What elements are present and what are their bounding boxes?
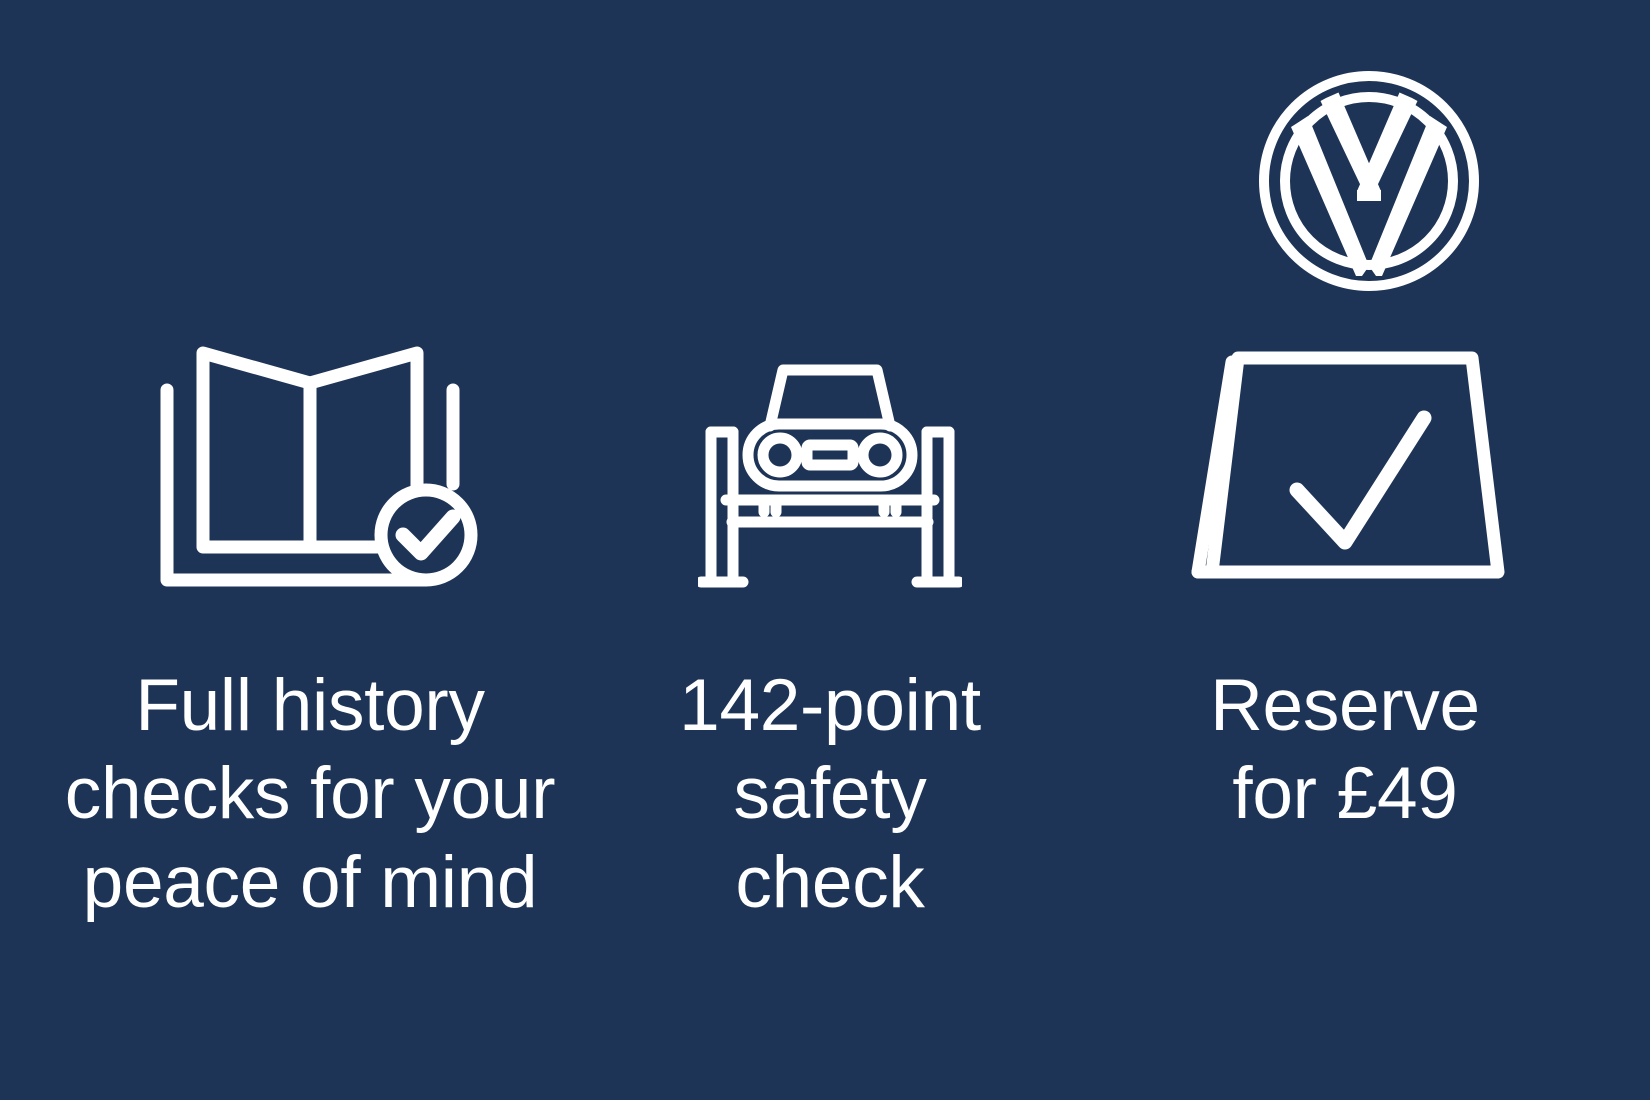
open-book-check-icon (140, 330, 480, 590)
feature-list: Full history checks for your peace of mi… (0, 330, 1650, 927)
feature-item-reserve: Reserve for £49 (1040, 330, 1650, 839)
feature-icon-wrapper (1180, 330, 1510, 590)
feature-icon-wrapper (698, 330, 962, 590)
feature-item-safety-check: 142-point safety check (620, 330, 1040, 927)
a-frame-sign-check-icon (1180, 340, 1510, 590)
car-on-lift-icon (698, 340, 962, 590)
check-badge-icon (381, 490, 471, 580)
feature-icon-wrapper (140, 330, 480, 590)
promo-banner: Full history checks for your peace of mi… (0, 0, 1650, 1100)
volkswagen-logo (1258, 70, 1480, 292)
feature-label: Full history checks for your peace of mi… (30, 662, 590, 927)
feature-label: 142-point safety check (630, 662, 1030, 927)
feature-label: Reserve for £49 (1135, 662, 1555, 839)
feature-item-history-checks: Full history checks for your peace of mi… (0, 330, 620, 927)
check-mark-icon (1297, 418, 1424, 542)
